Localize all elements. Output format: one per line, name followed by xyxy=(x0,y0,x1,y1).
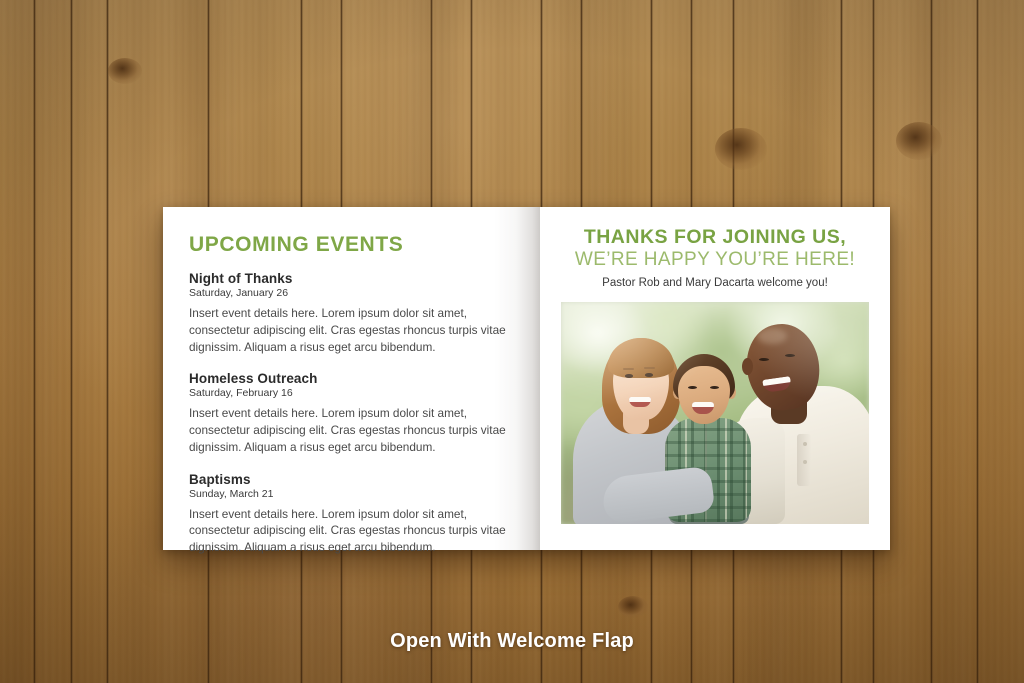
event-name: Night of Thanks xyxy=(189,271,516,286)
card-right-panel: THANKS FOR JOINING US, WE’RE HAPPY YOU’R… xyxy=(540,207,890,550)
thanks-headline-line1: THANKS FOR JOINING US, xyxy=(560,227,870,249)
event-date: Saturday, January 26 xyxy=(189,287,516,299)
mockup-caption: Open With Welcome Flap xyxy=(0,630,1024,653)
upcoming-events-heading: UPCOMING EVENTS xyxy=(189,233,516,257)
card-fold-highlight xyxy=(540,207,558,550)
event-description: Insert event details here. Lorem ipsum d… xyxy=(189,305,507,355)
event-item: Baptisms Sunday, March 21 Insert event d… xyxy=(189,472,516,556)
event-name: Baptisms xyxy=(189,472,516,487)
event-item: Night of Thanks Saturday, January 26 Ins… xyxy=(189,271,516,355)
event-date: Saturday, February 16 xyxy=(189,387,516,399)
thanks-headline-line2: WE’RE HAPPY YOU’RE HERE! xyxy=(560,249,870,271)
event-item: Homeless Outreach Saturday, February 16 … xyxy=(189,371,516,455)
event-date: Sunday, March 21 xyxy=(189,488,516,500)
photo-light-overlay xyxy=(561,302,869,524)
welcome-card[interactable]: UPCOMING EVENTS Night of Thanks Saturday… xyxy=(163,207,890,550)
pastor-welcome-line: Pastor Rob and Mary Dacarta welcome you! xyxy=(560,277,870,289)
mockup-stage: UPCOMING EVENTS Night of Thanks Saturday… xyxy=(0,0,1024,683)
card-left-panel: UPCOMING EVENTS Night of Thanks Saturday… xyxy=(163,207,540,550)
event-description: Insert event details here. Lorem ipsum d… xyxy=(189,405,507,455)
family-photo xyxy=(561,302,869,524)
event-name: Homeless Outreach xyxy=(189,371,516,386)
event-description: Insert event details here. Lorem ipsum d… xyxy=(189,506,507,556)
